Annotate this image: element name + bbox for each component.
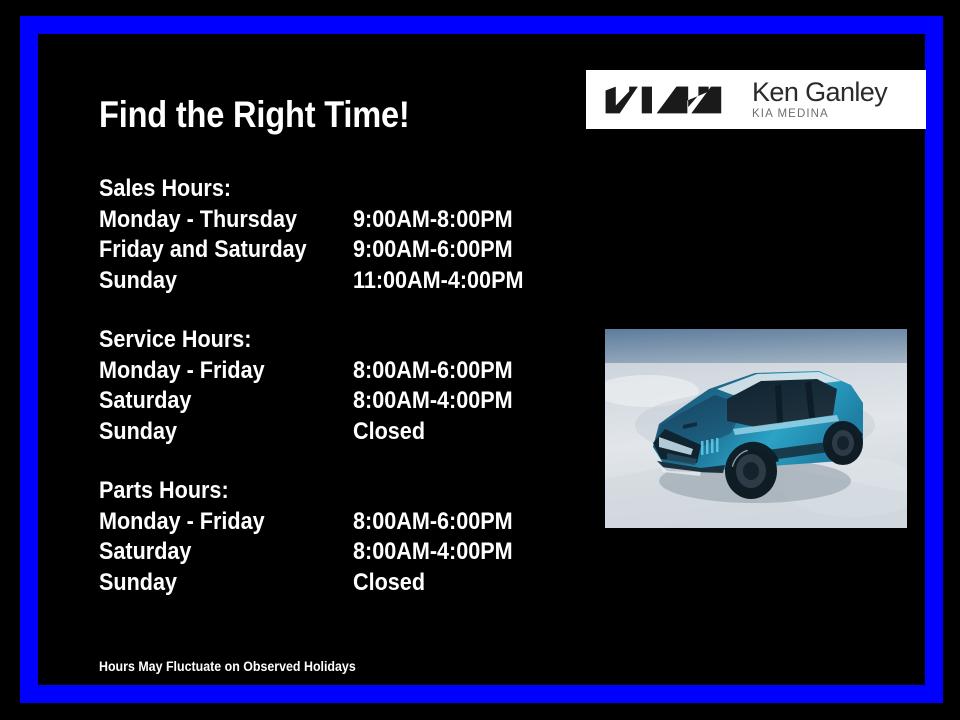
vehicle-photo xyxy=(605,329,907,528)
hours-row-time: 9:00AM-6:00PM xyxy=(353,235,513,266)
hours-row-day: Saturday xyxy=(99,537,328,568)
hours-row: Saturday 8:00AM-4:00PM xyxy=(99,537,569,568)
hours-row-time: 8:00AM-6:00PM xyxy=(353,356,513,387)
slide-content: Find the Right Time! Sales Hours: Monday… xyxy=(38,34,925,685)
hours-block-heading: Service Hours: xyxy=(99,325,522,356)
hours-row-time: 9:00AM-8:00PM xyxy=(353,205,513,236)
hours-row: Sunday Closed xyxy=(99,417,569,448)
hours-row-time: 8:00AM-4:00PM xyxy=(353,537,513,568)
hours-row-time: 8:00AM-6:00PM xyxy=(353,507,513,538)
hours-row-day: Saturday xyxy=(99,386,328,417)
kia-wordmark-icon xyxy=(604,85,722,115)
dealer-name-group: Ken Ganley KIA MEDINA xyxy=(752,79,887,121)
hours-row-day: Sunday xyxy=(99,568,328,599)
hours-row-day: Friday and Saturday xyxy=(99,235,328,266)
hours-row-day: Monday - Friday xyxy=(99,356,328,387)
hours-row: Friday and Saturday 9:00AM-6:00PM xyxy=(99,235,569,266)
hours-row-time: 8:00AM-4:00PM xyxy=(353,386,513,417)
hours-row: Sunday Closed xyxy=(99,568,569,599)
hours-row-day: Sunday xyxy=(99,417,328,448)
hours-row: Monday - Friday 8:00AM-6:00PM xyxy=(99,507,569,538)
dealer-logo-card: Ken Ganley KIA MEDINA xyxy=(586,70,926,129)
hours-row-time: Closed xyxy=(353,568,425,599)
slide-border: Find the Right Time! Sales Hours: Monday… xyxy=(20,16,943,703)
hours-row: Monday - Thursday 9:00AM-8:00PM xyxy=(99,205,569,236)
hours-block-sales: Sales Hours: Monday - Thursday 9:00AM-8:… xyxy=(99,174,569,296)
hours-row: Sunday 11:00AM-4:00PM xyxy=(99,266,569,297)
holiday-disclaimer: Hours May Fluctuate on Observed Holidays xyxy=(99,659,356,674)
hours-row-day: Monday - Thursday xyxy=(99,205,328,236)
page-title: Find the Right Time! xyxy=(99,94,410,136)
hours-row-day: Sunday xyxy=(99,266,328,297)
hours-block-heading: Sales Hours: xyxy=(99,174,522,205)
hours-block-service: Service Hours: Monday - Friday 8:00AM-6:… xyxy=(99,325,569,447)
hours-block-heading: Parts Hours: xyxy=(99,476,522,507)
hours-row: Saturday 8:00AM-4:00PM xyxy=(99,386,569,417)
dealer-name: Ken Ganley xyxy=(752,79,887,106)
hours-list: Sales Hours: Monday - Thursday 9:00AM-8:… xyxy=(99,174,569,598)
hours-row-time: Closed xyxy=(353,417,425,448)
hours-row: Monday - Friday 8:00AM-6:00PM xyxy=(99,356,569,387)
hours-row-day: Monday - Friday xyxy=(99,507,328,538)
dealer-subtitle: KIA MEDINA xyxy=(752,109,887,121)
hours-row-time: 11:00AM-4:00PM xyxy=(353,266,523,297)
slide: Find the Right Time! Sales Hours: Monday… xyxy=(0,0,960,720)
hours-block-parts: Parts Hours: Monday - Friday 8:00AM-6:00… xyxy=(99,476,569,598)
